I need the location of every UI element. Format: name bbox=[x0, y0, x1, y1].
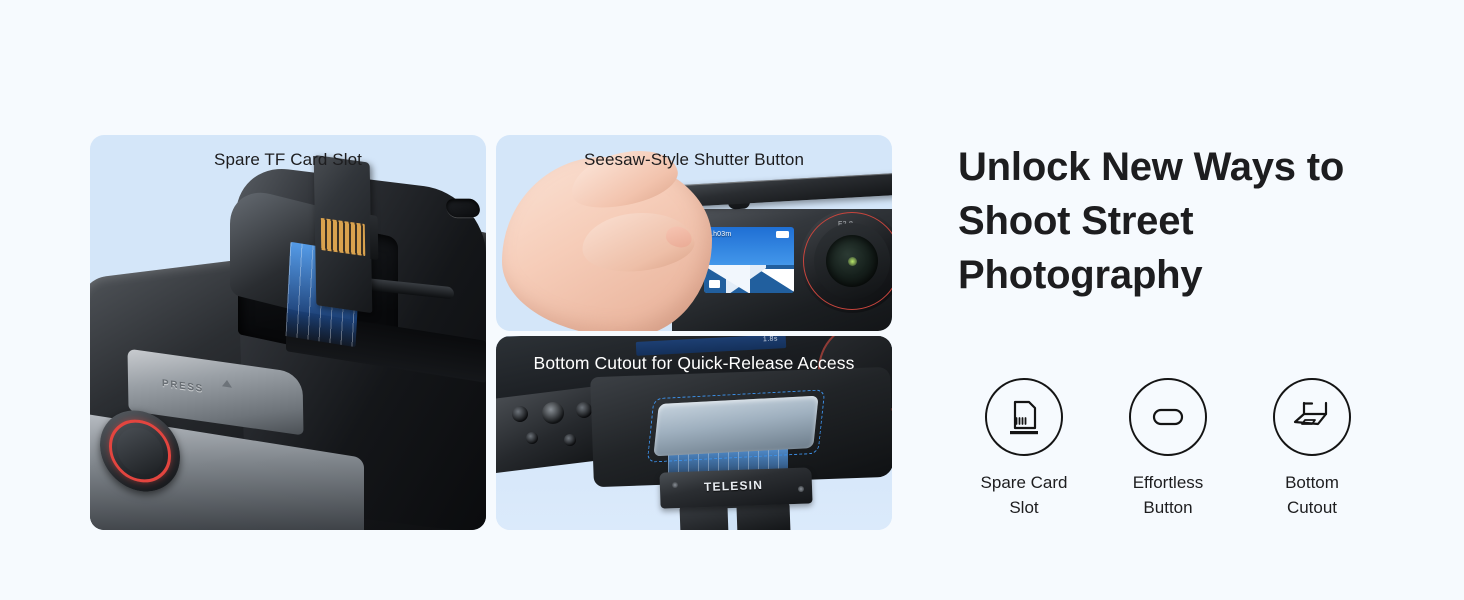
page-title: Unlock New Ways to Shoot Street Photogra… bbox=[958, 140, 1378, 302]
headline-line-2: Shoot Street bbox=[958, 194, 1378, 248]
tripod-screw-hole bbox=[542, 402, 564, 424]
panel-seesaw-shutter-button: 1h03m F2.8 Seesaw-Style Shutter Button bbox=[496, 135, 892, 331]
mount-hole bbox=[576, 402, 592, 418]
headline-line-1: Unlock New Ways to bbox=[958, 140, 1378, 194]
feature-bottom-cutout: Bottom Cutout bbox=[1246, 378, 1378, 520]
mount-hole bbox=[512, 406, 528, 422]
feature-label: Effortless Button bbox=[1133, 470, 1204, 520]
mount-hole bbox=[564, 434, 576, 446]
plate-screw bbox=[672, 482, 678, 488]
feature-icon-circle bbox=[985, 378, 1063, 456]
capsule-button-icon bbox=[1145, 394, 1191, 440]
marketing-banner: PRESS Spare TF Card Slot 1h03m F2.8 bbox=[0, 0, 1464, 600]
press-triangle-icon bbox=[222, 379, 232, 388]
panel-caption-card-slot: Spare TF Card Slot bbox=[90, 150, 486, 170]
feature-label: Bottom Cutout bbox=[1285, 470, 1339, 520]
panel-caption-bottom-cutout: Bottom Cutout for Quick-Release Access bbox=[496, 353, 892, 374]
cutout-dashed-outline bbox=[647, 389, 826, 462]
camera-lcd-screen: 1h03m bbox=[704, 227, 794, 293]
screen-record-time: 1h03m bbox=[709, 231, 731, 238]
panel-caption-shutter-button: Seesaw-Style Shutter Button bbox=[496, 150, 892, 170]
mount-hole bbox=[526, 432, 538, 444]
feature-label: Spare Card Slot bbox=[981, 470, 1068, 520]
headline-line-3: Photography bbox=[958, 248, 1378, 302]
screen-mountain-photo bbox=[704, 265, 794, 293]
feature-icon-circle bbox=[1273, 378, 1351, 456]
feature-icon-circle bbox=[1129, 378, 1207, 456]
play-icon bbox=[709, 280, 720, 288]
product-photo-card-slot: PRESS bbox=[90, 135, 486, 530]
feature-effortless-button: Effortless Button bbox=[1102, 378, 1234, 520]
headline-block: Unlock New Ways to Shoot Street Photogra… bbox=[958, 140, 1378, 302]
bottom-cutout-icon bbox=[1289, 394, 1335, 440]
panel-spare-tf-card-slot: PRESS Spare TF Card Slot bbox=[90, 135, 486, 530]
camera-body-label-text: 1.8s bbox=[763, 336, 778, 343]
feature-icon-row: Spare Card Slot Effortless Button Bo bbox=[958, 378, 1378, 520]
battery-icon bbox=[776, 231, 789, 238]
memory-card-icon bbox=[1001, 394, 1047, 440]
memory-card-contacts bbox=[321, 218, 366, 256]
telesin-brand-label: TELESIN bbox=[704, 478, 764, 494]
lens-flare bbox=[848, 257, 857, 266]
grip-side-port bbox=[445, 199, 482, 217]
panel-bottom-cutout: 1.8s TELESIN Bottom Cutout for Quick-Rel… bbox=[496, 336, 892, 530]
plate-screw bbox=[798, 486, 804, 492]
tripod-gap bbox=[728, 508, 738, 530]
feature-spare-card-slot: Spare Card Slot bbox=[958, 378, 1090, 520]
